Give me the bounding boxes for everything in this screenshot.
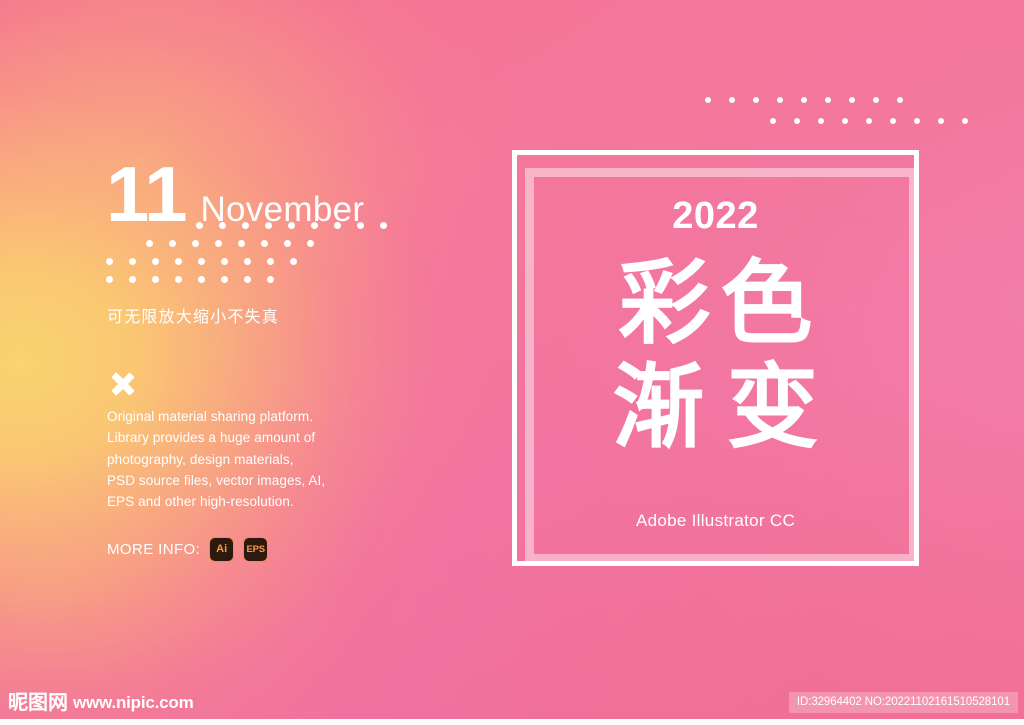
dot-row-4 — [106, 276, 290, 283]
body-copy-line: PSD source files, vector images, AI, — [107, 470, 367, 491]
decorative-dot — [357, 222, 364, 229]
decorative-dot — [842, 118, 848, 124]
decorative-dot — [192, 240, 199, 247]
decorative-dot — [334, 222, 341, 229]
panel-year: 2022 — [512, 195, 919, 238]
cross-icon — [109, 371, 137, 397]
decorative-dot — [261, 240, 268, 247]
decorative-dot — [215, 240, 222, 247]
body-copy-line: Library provides a huge amount of — [107, 427, 367, 448]
decorative-dot — [242, 222, 249, 229]
decorative-dot — [267, 258, 274, 265]
decorative-dot — [175, 276, 182, 283]
body-copy-line: Original material sharing platform. — [107, 406, 367, 427]
body-copy-line: photography, design materials, — [107, 449, 367, 470]
decorative-dot — [914, 118, 920, 124]
decorative-dot — [890, 118, 896, 124]
decorative-dot — [849, 97, 855, 103]
decorative-dot — [753, 97, 759, 103]
ai-badge[interactable]: Ai — [209, 537, 234, 562]
decorative-dot — [897, 97, 903, 103]
decorative-dot — [198, 258, 205, 265]
decorative-dot — [129, 258, 136, 265]
decorative-dot — [198, 276, 205, 283]
footer-divider-rule — [0, 719, 1024, 725]
brand-url-text: www.nipic.com — [73, 694, 194, 712]
panel-title-line-2: 渐变 — [512, 356, 919, 460]
date-heading: 11 November — [106, 163, 364, 227]
footer-strip: 昵图网 www.nipic.com ID:32964402 NO:2022110… — [0, 668, 1024, 725]
decorative-dot — [175, 258, 182, 265]
top-dot-row-2 — [770, 118, 986, 124]
decorative-dot — [152, 276, 159, 283]
body-copy-line: EPS and other high-resolution. — [107, 491, 367, 512]
eps-badge[interactable]: EPS — [243, 537, 268, 562]
top-decorative-dots — [705, 97, 935, 133]
decorative-dot-grid — [106, 222, 386, 282]
decorative-dot — [866, 118, 872, 124]
decorative-dot — [777, 97, 783, 103]
panel-subtitle: Adobe Illustrator CC — [512, 511, 919, 531]
decorative-dot — [244, 258, 251, 265]
decorative-dot — [770, 118, 776, 124]
date-day-number: 11 — [106, 163, 186, 225]
decorative-dot — [290, 258, 297, 265]
body-copy-block: Original material sharing platform. Libr… — [107, 406, 367, 512]
more-info-label: MORE INFO: — [107, 541, 200, 558]
decorative-dot — [801, 97, 807, 103]
decorative-dot — [288, 222, 295, 229]
decorative-dot — [284, 240, 291, 247]
decorative-dot — [221, 258, 228, 265]
decorative-dot — [825, 97, 831, 103]
decorative-dot — [146, 240, 153, 247]
left-content-column: 11 November 可无限放大缩小不失真 Original material… — [106, 0, 506, 725]
decorative-dot — [219, 222, 226, 229]
dot-row-3 — [106, 258, 313, 265]
decorative-dot — [818, 118, 824, 124]
tagline-chinese: 可无限放大缩小不失真 — [107, 303, 279, 327]
decorative-dot — [129, 276, 136, 283]
decorative-dot — [794, 118, 800, 124]
top-dot-row-1 — [705, 97, 921, 103]
poster-canvas: 11 November 可无限放大缩小不失真 Original material… — [0, 0, 1024, 725]
decorative-dot — [380, 222, 387, 229]
more-info-row: MORE INFO: Ai EPS — [107, 537, 268, 562]
decorative-dot — [196, 222, 203, 229]
decorative-dot — [152, 258, 159, 265]
decorative-dot — [705, 97, 711, 103]
decorative-dot — [238, 240, 245, 247]
decorative-dot — [221, 276, 228, 283]
brand-logo-text: 昵图网 — [8, 692, 68, 712]
image-id-chip: ID:32964402 NO:20221102161510528101 — [789, 692, 1018, 713]
decorative-dot — [265, 222, 272, 229]
decorative-dot — [938, 118, 944, 124]
decorative-dot — [106, 258, 113, 265]
site-brand: 昵图网 www.nipic.com — [8, 692, 194, 712]
panel-title-line-1: 彩色 — [512, 252, 919, 356]
decorative-dot — [169, 240, 176, 247]
dot-row-2 — [146, 240, 330, 247]
decorative-dot — [729, 97, 735, 103]
panel-title: 彩色 渐变 — [512, 252, 919, 460]
decorative-dot — [311, 222, 318, 229]
decorative-dot — [244, 276, 251, 283]
decorative-dot — [106, 276, 113, 283]
decorative-dot — [962, 118, 968, 124]
decorative-dot — [307, 240, 314, 247]
decorative-dot — [873, 97, 879, 103]
dot-row-1 — [196, 222, 403, 229]
decorative-dot — [267, 276, 274, 283]
